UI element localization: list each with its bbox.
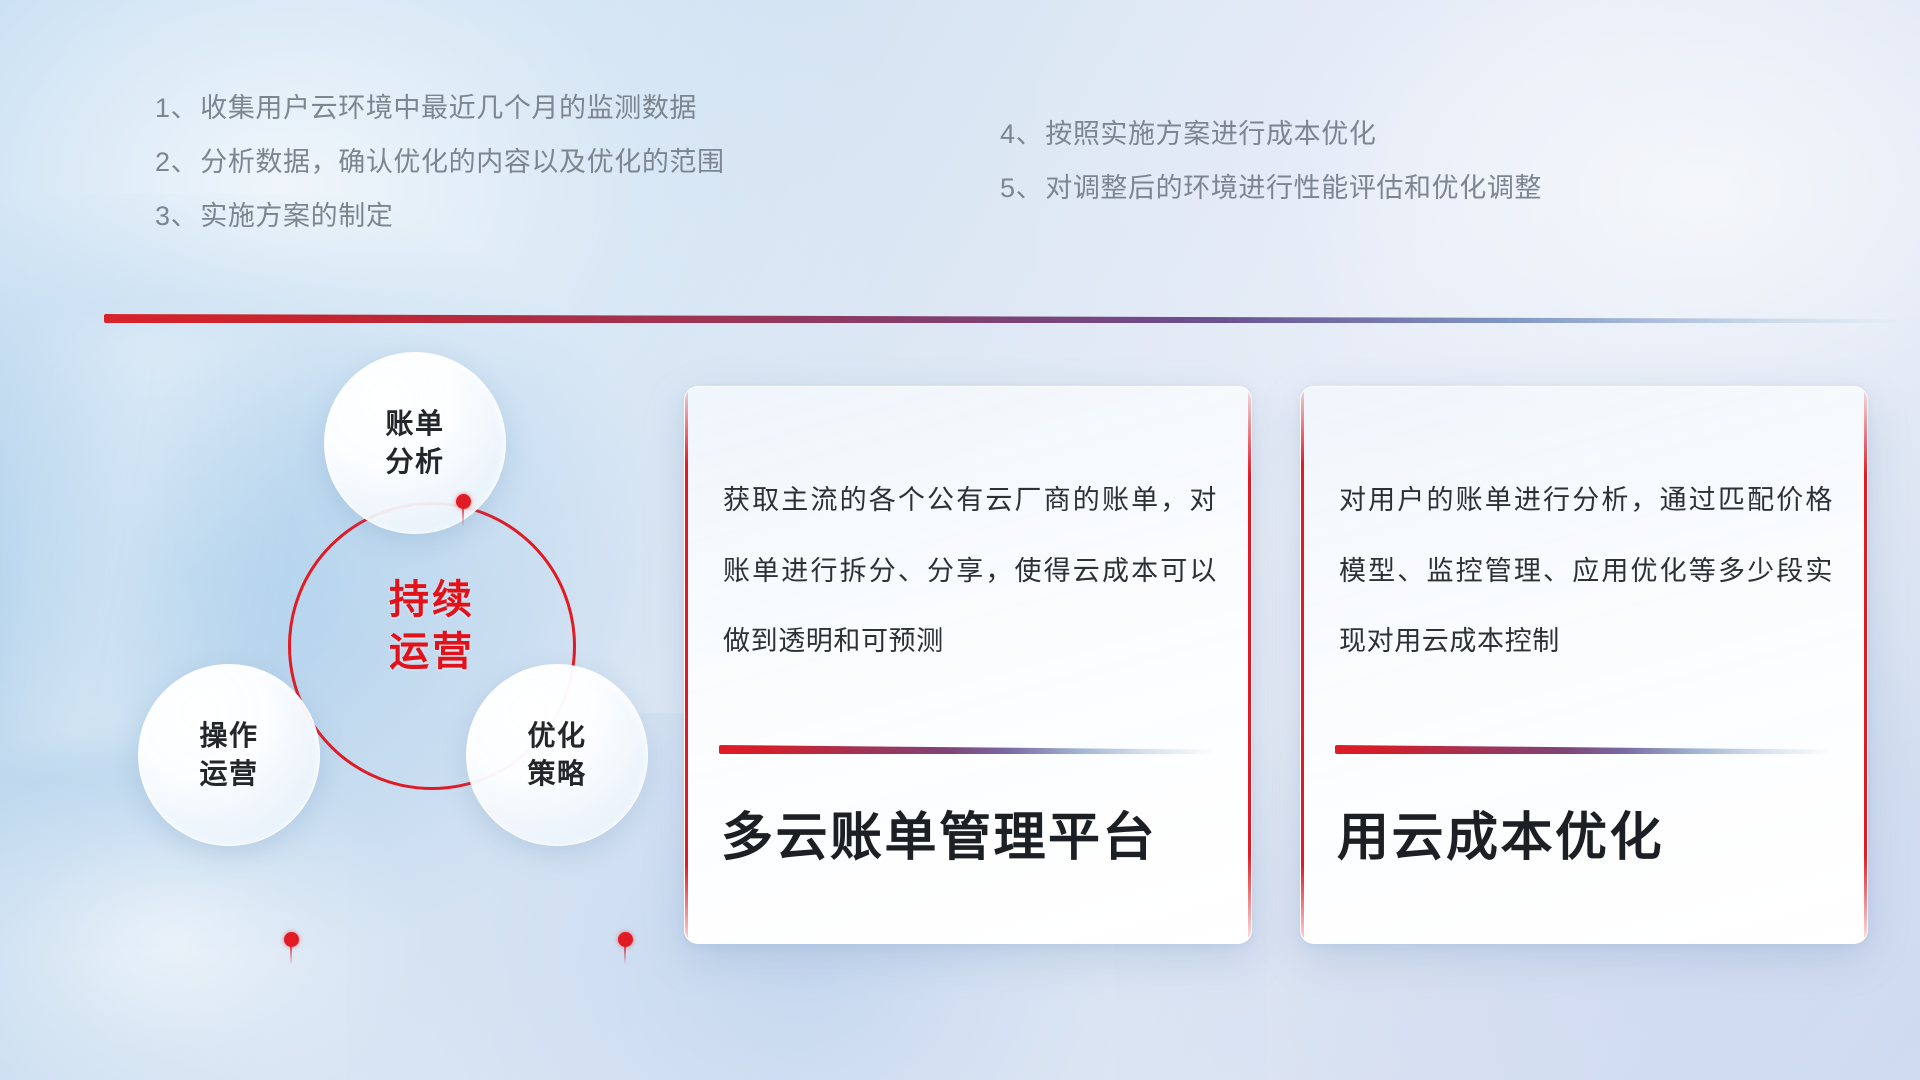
step-number-3: 3、 (155, 201, 198, 231)
node-dot-top (456, 494, 471, 509)
venn-circle-diagram: 持续 运营 账单 分析 操作 运营 优化 策略 (96, 352, 626, 942)
diagram-node-bill-analysis[interactable]: 账单 分析 (324, 352, 506, 534)
card-divider (719, 745, 1217, 754)
node-tail-right (624, 945, 626, 965)
node-label-line1: 优化 (527, 717, 586, 755)
node-dot-right (618, 932, 633, 947)
center-label-line1: 持续 (288, 574, 576, 626)
diagram-node-operations[interactable]: 操作 运营 (138, 664, 320, 846)
card-title: 用云成本优化 (1337, 807, 1837, 869)
step-number-1: 1、 (155, 93, 198, 123)
diagram-node-optimization-strategy[interactable]: 优化 策略 (466, 664, 648, 846)
node-tail-top (462, 507, 464, 527)
steps-list: 1、收集用户云环境中最近几个月的监测数据 2、分析数据，确认优化的内容以及优化的… (0, 86, 1920, 236)
step-text-5: 对调整后的环境进行性能评估和优化调整 (1045, 173, 1542, 203)
step-item-5: 5、对调整后的环境进行性能评估和优化调整 (1000, 166, 1542, 205)
node-label-line2: 策略 (527, 755, 586, 793)
node-label-line1: 操作 (199, 717, 258, 755)
step-item-4: 4、按照实施方案进行成本优化 (1000, 112, 1376, 151)
step-item-2: 2、分析数据，确认优化的内容以及优化的范围 (155, 140, 725, 179)
node-label-line1: 账单 (385, 405, 444, 443)
card-title: 多云账单管理平台 (721, 807, 1221, 869)
step-item-1: 1、收集用户云环境中最近几个月的监测数据 (155, 86, 697, 125)
step-number-5: 5、 (1000, 173, 1043, 203)
card-body-text: 对用户的账单进行分析，通过匹配价格模型、监控管理、应用优化等多少段实现对用云成本… (1339, 465, 1833, 677)
step-item-3: 3、实施方案的制定 (155, 194, 393, 233)
step-text-2: 分析数据，确认优化的内容以及优化的范围 (200, 147, 724, 177)
node-label-line2: 运营 (199, 755, 258, 793)
step-text-4: 按照实施方案进行成本优化 (1045, 119, 1376, 149)
diagram-center-label: 持续 运营 (288, 574, 576, 678)
step-number-2: 2、 (155, 147, 198, 177)
card-divider (1335, 745, 1833, 754)
step-text-1: 收集用户云环境中最近几个月的监测数据 (200, 93, 697, 123)
step-text-3: 实施方案的制定 (200, 201, 393, 231)
card-body-text: 获取主流的各个公有云厂商的账单，对账单进行拆分、分享，使得云成本可以做到透明和可… (723, 465, 1217, 677)
node-tail-left (290, 945, 292, 965)
node-label-line2: 分析 (385, 443, 444, 481)
step-number-4: 4、 (1000, 119, 1043, 149)
feature-card-cloud-cost-optimization[interactable]: 对用户的账单进行分析，通过匹配价格模型、监控管理、应用优化等多少段实现对用云成本… (1300, 386, 1868, 944)
node-dot-left (284, 932, 299, 947)
feature-card-multicloud-billing[interactable]: 获取主流的各个公有云厂商的账单，对账单进行拆分、分享，使得云成本可以做到透明和可… (684, 386, 1252, 944)
